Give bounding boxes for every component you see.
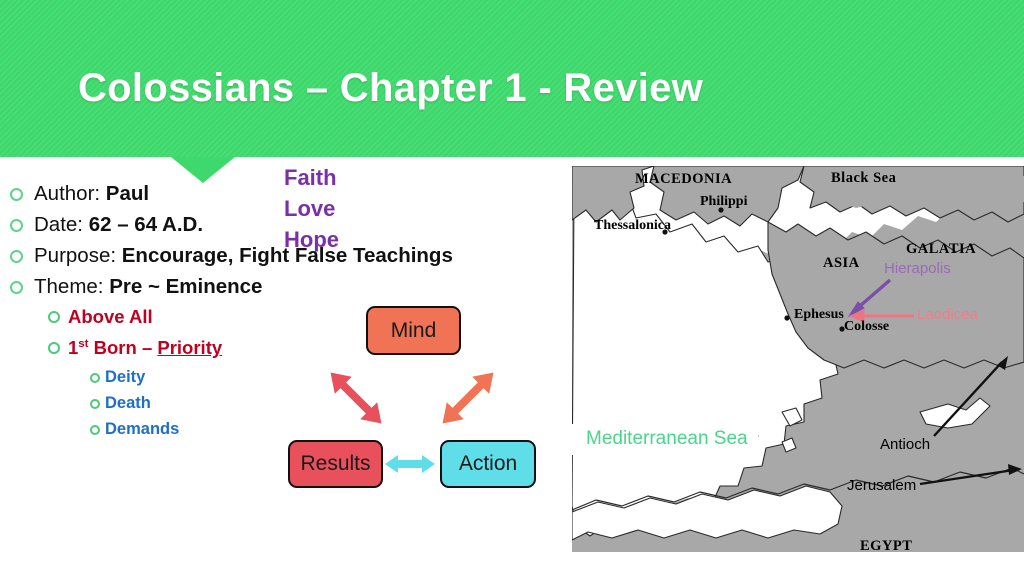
theme-label: Theme:	[34, 275, 109, 298]
bullet-ring-icon	[90, 399, 100, 409]
city-dot-ephesus	[784, 315, 789, 320]
first-born-mid: Born –	[89, 337, 158, 358]
results-mind-arrow-icon	[328, 358, 384, 438]
diagram-box-label: Mind	[391, 319, 437, 343]
virtue-love: Love	[284, 193, 339, 224]
author-value: Paul	[106, 182, 149, 205]
map-label-mediterranean-sea: Mediterranean Sea	[586, 428, 748, 449]
map-label-colosse: Colosse	[844, 319, 889, 335]
list-item-text: Death	[105, 394, 151, 413]
date-value: 62 – 64 A.D.	[89, 213, 203, 236]
diagram-box-results: Results	[288, 440, 383, 488]
author-label: Author:	[34, 182, 106, 205]
list-item-text: Date: 62 – 64 A.D.	[34, 213, 203, 237]
theme-value: Pre ~ Eminence	[109, 275, 262, 298]
bullet-ring-icon	[10, 219, 23, 232]
above-all-text: Above All	[68, 306, 153, 328]
map-label-black-sea: Black Sea	[831, 170, 896, 187]
diagram-box-label: Results	[300, 452, 370, 476]
mind-results-action-diagram: Mind Results Action	[280, 295, 550, 505]
banner-notch-triangle	[171, 157, 235, 183]
results-action-arrow-icon	[383, 449, 437, 479]
map-label-laodicea: Laodicea	[917, 306, 978, 323]
page-title: Colossians – Chapter 1 - Review	[78, 66, 703, 111]
list-item-author: Author: Paul	[10, 182, 528, 206]
map-label-asia: ASIA	[823, 255, 860, 272]
bullet-ring-icon	[10, 281, 23, 294]
bullet-ring-icon	[10, 250, 23, 263]
list-item-date: Date: 62 – 64 A.D.	[10, 213, 528, 237]
map-label-philippi: Philippi	[700, 194, 747, 210]
map-label-egypt: EGYPT	[860, 538, 912, 552]
virtues-list: Faith Love Hope	[284, 162, 339, 255]
list-item-text: Author: Paul	[34, 182, 149, 206]
first-born-prefix: 1	[68, 337, 78, 358]
asia-minor-map: MACEDONIA Philippi Thessalonica Black Se…	[572, 166, 1024, 552]
list-item-text: Deity	[105, 368, 145, 387]
map-label-galatia: GALATIA	[906, 241, 976, 258]
map-label-thessalonica: Thessalonica	[594, 218, 671, 234]
bullet-ring-icon	[48, 311, 60, 323]
bullet-ring-icon	[90, 425, 100, 435]
bullet-ring-icon	[90, 373, 100, 383]
list-item-text: Demands	[105, 420, 179, 439]
virtue-hope: Hope	[284, 224, 339, 255]
map-label-hierapolis: Hierapolis	[884, 260, 951, 277]
diagram-box-label: Action	[459, 452, 517, 476]
purpose-label: Purpose:	[34, 244, 122, 267]
virtue-faith: Faith	[284, 162, 339, 193]
mediterranean-sea-label-box: Mediterranean Sea	[572, 424, 758, 455]
first-born-text: 1st Born – Priority	[68, 337, 222, 359]
map-label-ephesus: Ephesus	[794, 307, 844, 323]
date-label: Date:	[34, 213, 89, 236]
diagram-box-mind: Mind	[366, 306, 461, 355]
list-item-purpose: Purpose: Encourage, Fight False Teaching…	[10, 244, 528, 268]
ordinal-suffix: st	[78, 338, 88, 350]
bullet-ring-icon	[10, 188, 23, 201]
priority-underlined: Priority	[157, 337, 222, 358]
list-item-text: Purpose: Encourage, Fight False Teaching…	[34, 244, 453, 268]
diagram-box-action: Action	[440, 440, 536, 488]
mind-action-arrow-icon	[440, 358, 496, 438]
list-item-text: Theme: Pre ~ Eminence	[34, 275, 262, 299]
map-label-jerusalem: Jerusalem	[847, 477, 916, 494]
bullet-ring-icon	[48, 342, 60, 354]
map-label-antioch: Antioch	[880, 436, 930, 453]
map-label-macedonia: MACEDONIA	[635, 171, 732, 188]
